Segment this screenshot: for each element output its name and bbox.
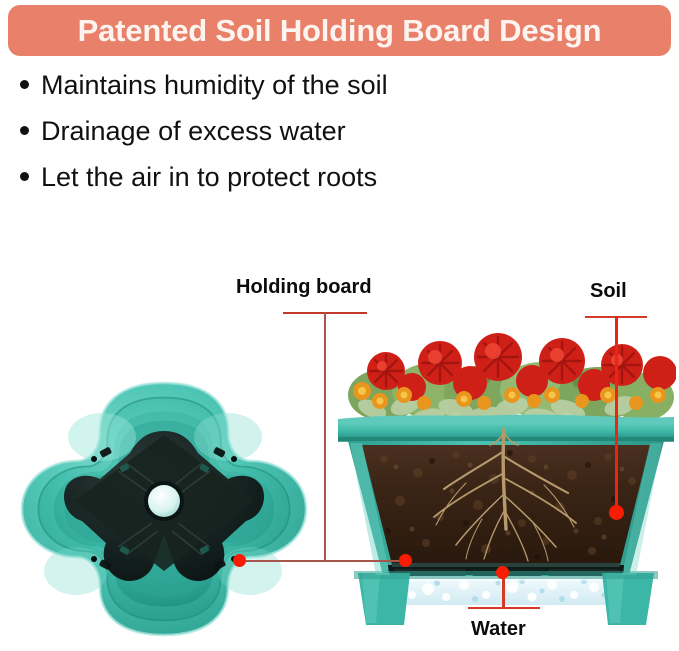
feature-text: Drainage of excess water (41, 118, 346, 145)
soil-marker-dot (609, 505, 624, 520)
bullet-dot-icon (20, 172, 29, 181)
callout-label-holding-board: Holding board (236, 277, 372, 297)
water-leader-cap (468, 607, 540, 609)
water-reservoir (396, 576, 618, 605)
list-item: Maintains humidity of the soil (20, 72, 540, 118)
lobe-highlight (194, 413, 262, 461)
bullet-dot-icon (20, 80, 29, 89)
lobe-highlight (218, 547, 282, 595)
callout-label-soil: Soil (590, 281, 627, 301)
holding-board-leader-horizontal (240, 560, 408, 562)
top-view-planter-graphic (14, 375, 314, 643)
flower-bed (348, 333, 676, 428)
header-banner: Patented Soil Holding Board Design (8, 5, 671, 56)
top-view-planter (14, 375, 314, 643)
list-item: Drainage of excess water (20, 118, 540, 164)
feature-list: Maintains humidity of the soil Drainage … (20, 72, 540, 210)
lobe-highlight (44, 547, 108, 595)
center-drain-hole (148, 485, 180, 517)
water-marker-dot (496, 566, 509, 579)
cross-section-graphic (336, 333, 676, 646)
feature-text: Maintains humidity of the soil (41, 72, 388, 99)
list-item: Let the air in to protect roots (20, 164, 540, 210)
page-title: Patented Soil Holding Board Design (78, 15, 602, 46)
holding-board-marker-dot-left (233, 554, 246, 567)
feature-text: Let the air in to protect roots (41, 164, 377, 191)
holding-board-leader-vertical (324, 312, 326, 561)
product-diagram: Holding board Soil Water (0, 255, 679, 646)
cross-section-planter (336, 333, 676, 646)
callout-label-water: Water (471, 619, 526, 639)
holding-board-marker-dot-right (399, 554, 412, 567)
bullet-dot-icon (20, 126, 29, 135)
soil-leader-vertical (615, 316, 618, 510)
